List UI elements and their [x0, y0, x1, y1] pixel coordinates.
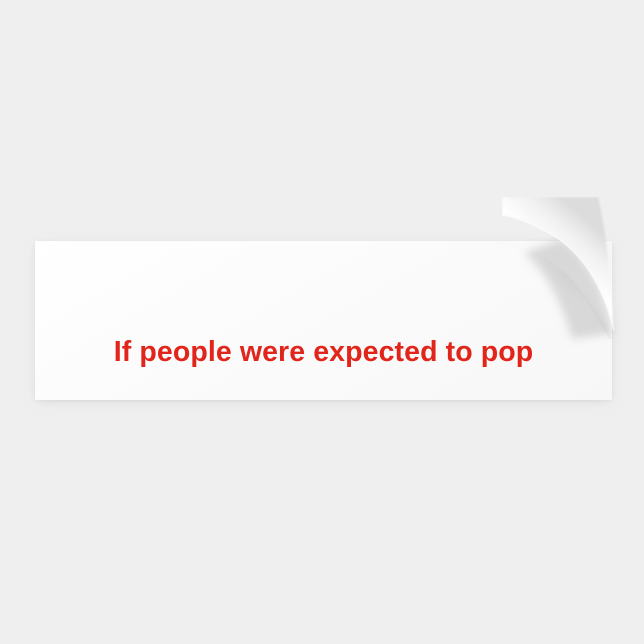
product-mockup-canvas: If people were expected to pop out of be… [0, 0, 644, 644]
bumper-sticker[interactable]: If people were expected to pop out of be… [35, 241, 612, 400]
sticker-text-block: If people were expected to pop out of be… [35, 255, 612, 400]
sticker-text-line-1: If people were expected to pop [35, 333, 612, 372]
sticker-face[interactable]: If people were expected to pop out of be… [35, 241, 612, 400]
